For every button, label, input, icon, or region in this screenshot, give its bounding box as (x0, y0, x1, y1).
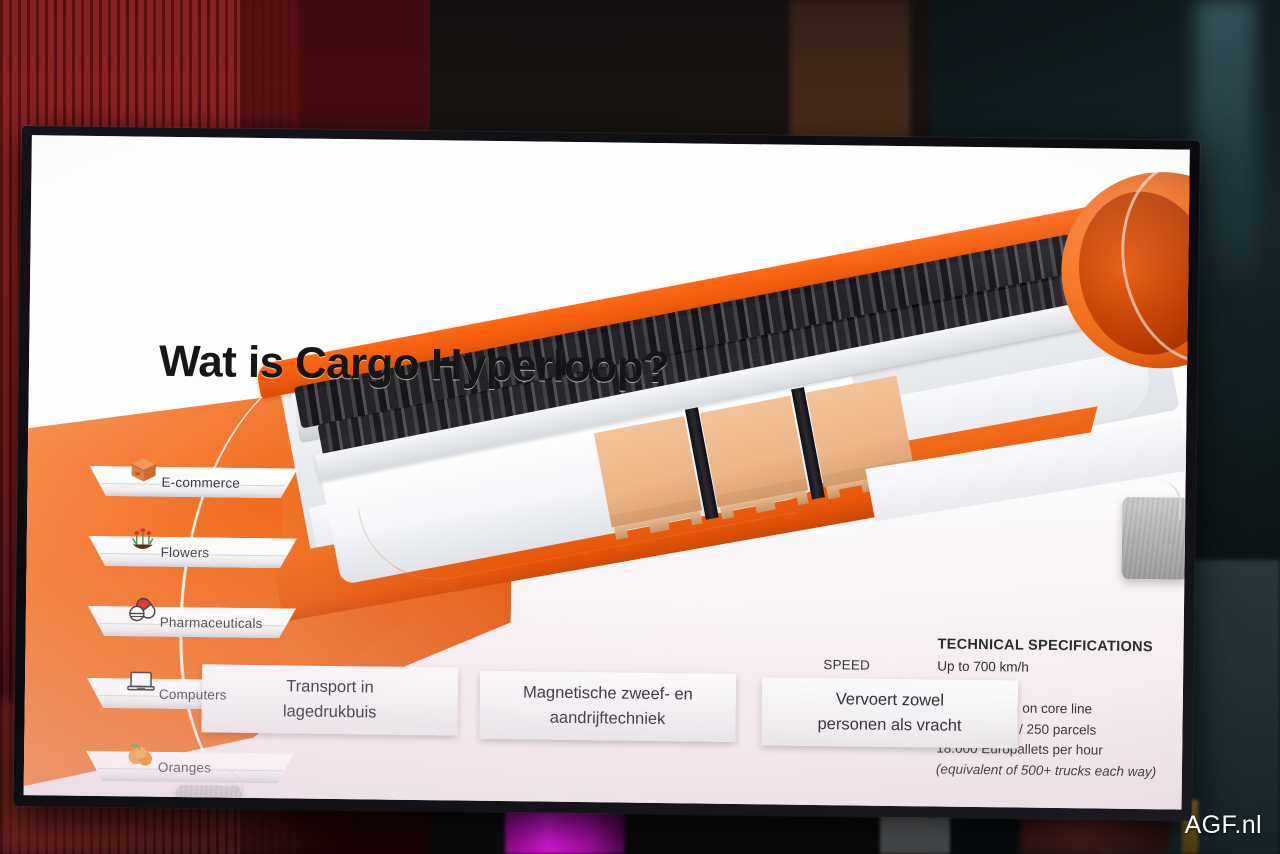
cardboard-box-icon (127, 453, 159, 485)
tech-spec-title: TECHNICAL SPECIFICATIONS (937, 637, 1189, 657)
tv-bezel: Wat is Cargo Hyperloop? E-commerce (13, 126, 1199, 821)
spec-value: (equivalent of 500+ trucks each way) (936, 759, 1190, 783)
cargo-category-flowers[interactable]: Flowers (88, 536, 296, 569)
spec-key (822, 758, 936, 780)
pills-capsule-icon (126, 593, 158, 625)
feature-caption-text: Transport in lagedrukbuis (283, 674, 377, 725)
tv-screen: Wat is Cargo Hyperloop? E-commerce (24, 135, 1190, 809)
presentation-slide: Wat is Cargo Hyperloop? E-commerce (24, 135, 1190, 809)
page-title: Wat is Cargo Hyperloop? (159, 337, 670, 393)
watermark: AGF.nl (1185, 811, 1262, 840)
laptop-icon (125, 665, 157, 697)
tulips-icon (127, 523, 159, 555)
cargo-category-label: Computers (159, 686, 227, 702)
feature-caption-box: Vervoert zowel personen als vracht (761, 677, 1018, 748)
cargo-category-oranges[interactable]: Oranges (86, 751, 294, 784)
cargo-category-pharmaceuticals[interactable]: Pharmaceuticals (88, 606, 296, 639)
feature-caption-text: Vervoert zowel personen als vracht (817, 687, 962, 739)
teal-light-glow (1195, 0, 1255, 300)
spec-key: SPEED (823, 655, 937, 677)
oranges-icon (124, 738, 156, 770)
cargo-category-label: Pharmaceuticals (160, 614, 263, 630)
europallet-cargo (594, 416, 702, 528)
feature-caption-box: Transport in lagedrukbuis (201, 664, 458, 735)
presentation-display: Wat is Cargo Hyperloop? E-commerce (13, 126, 1199, 821)
europallet-cargo (700, 396, 808, 508)
feature-caption-box: Magnetische zweef- en aandrijftechniek (479, 671, 736, 742)
cargo-category-label: E-commerce (161, 474, 240, 490)
feature-caption-text: Magnetische zweef- en aandrijftechniek (523, 680, 693, 732)
spec-row: (equivalent of 500+ trucks each way) (822, 758, 1190, 784)
cargo-category-label: Flowers (161, 544, 210, 560)
cargo-category-e-commerce[interactable]: E-commerce (89, 466, 297, 499)
